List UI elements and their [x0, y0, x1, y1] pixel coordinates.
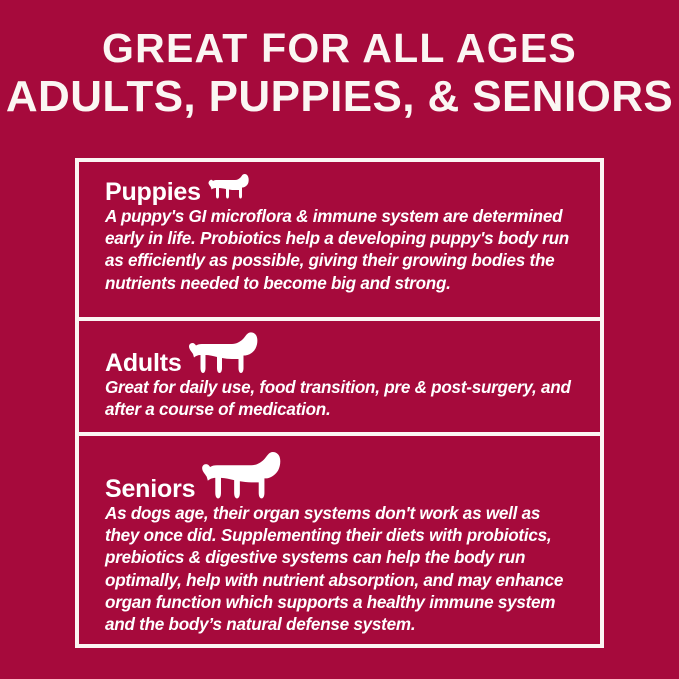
age-groups-panel: Puppies A puppy's GI microflora & immune…	[75, 158, 604, 648]
section-adults-body: Great for daily use, food transition, pr…	[105, 377, 578, 421]
headline-line-1: GREAT FOR ALL AGES	[0, 28, 679, 69]
section-puppies-header: Puppies	[105, 172, 578, 205]
headline-line-2: ADULTS, PUPPIES, & SENIORS	[0, 75, 679, 119]
section-seniors-header: Seniors	[105, 448, 578, 502]
section-seniors-body: As dogs age, their organ systems don't w…	[105, 503, 578, 636]
section-adults: Adults Great for daily use, food transit…	[79, 317, 600, 432]
puppy-dog-silhouette-icon	[207, 172, 251, 203]
section-puppies-title: Puppies	[105, 179, 201, 205]
section-seniors-title: Seniors	[105, 476, 195, 502]
section-adults-header: Adults	[105, 329, 578, 376]
product-feature-poster: GREAT FOR ALL AGES ADULTS, PUPPIES, & SE…	[0, 0, 679, 679]
section-adults-title: Adults	[105, 350, 182, 376]
section-puppies-body: A puppy's GI microflora & immune system …	[105, 206, 578, 295]
section-puppies: Puppies A puppy's GI microflora & immune…	[79, 162, 600, 317]
poster-headline: GREAT FOR ALL AGES ADULTS, PUPPIES, & SE…	[0, 0, 679, 119]
adult-dog-silhouette-icon	[188, 329, 258, 376]
senior-dog-silhouette-icon	[201, 448, 281, 502]
section-seniors: Seniors As dogs age, their organ systems…	[79, 432, 600, 644]
